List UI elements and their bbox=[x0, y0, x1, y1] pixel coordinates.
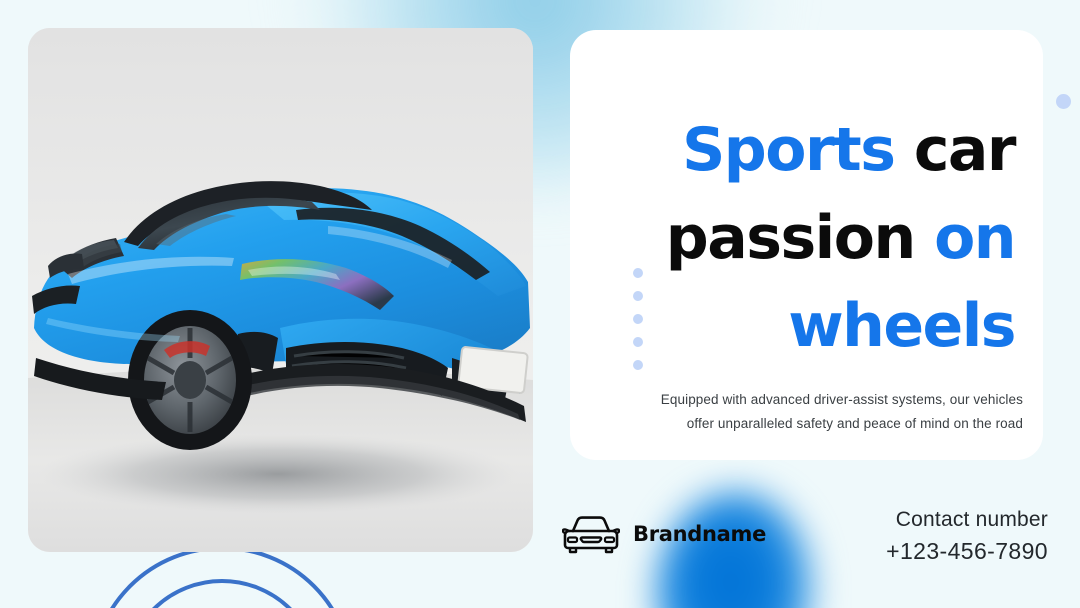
page-title: Sports car passion on wheels bbox=[595, 106, 1015, 370]
headline-line-1: Sports car bbox=[595, 106, 1015, 194]
corner-dot-decoration bbox=[1056, 94, 1071, 109]
bullet-dot bbox=[633, 337, 643, 347]
content-card: Sports car passion on wheels Equipped wi… bbox=[570, 30, 1043, 460]
body-copy: Equipped with advanced driver-assist sys… bbox=[633, 388, 1023, 436]
poster-canvas: Sports car passion on wheels Equipped wi… bbox=[0, 0, 1080, 608]
headline-word-car: car bbox=[894, 115, 1015, 185]
bullet-dots-decoration bbox=[633, 268, 643, 370]
headline-line-2: passion on bbox=[595, 194, 1015, 282]
brand-name: Brandname bbox=[633, 522, 766, 546]
headline-word-sports: Sports bbox=[682, 115, 894, 185]
contact-number[interactable]: +123-456-7890 bbox=[886, 535, 1048, 567]
bullet-dot bbox=[633, 268, 643, 278]
car-front-icon bbox=[562, 512, 620, 556]
headline-word-on: on bbox=[934, 203, 1015, 273]
headline-word-passion: passion bbox=[666, 203, 934, 273]
headline-line-3: wheels bbox=[595, 282, 1015, 370]
bullet-dot bbox=[633, 360, 643, 370]
bullet-dot bbox=[633, 291, 643, 301]
brand-lockup: Brandname bbox=[562, 512, 766, 556]
headline-word-wheels: wheels bbox=[788, 291, 1015, 361]
bullet-dot bbox=[633, 314, 643, 324]
contact-block: Contact number +123-456-7890 bbox=[886, 505, 1048, 567]
contact-label: Contact number bbox=[886, 505, 1048, 535]
hero-car-photo bbox=[28, 28, 533, 552]
